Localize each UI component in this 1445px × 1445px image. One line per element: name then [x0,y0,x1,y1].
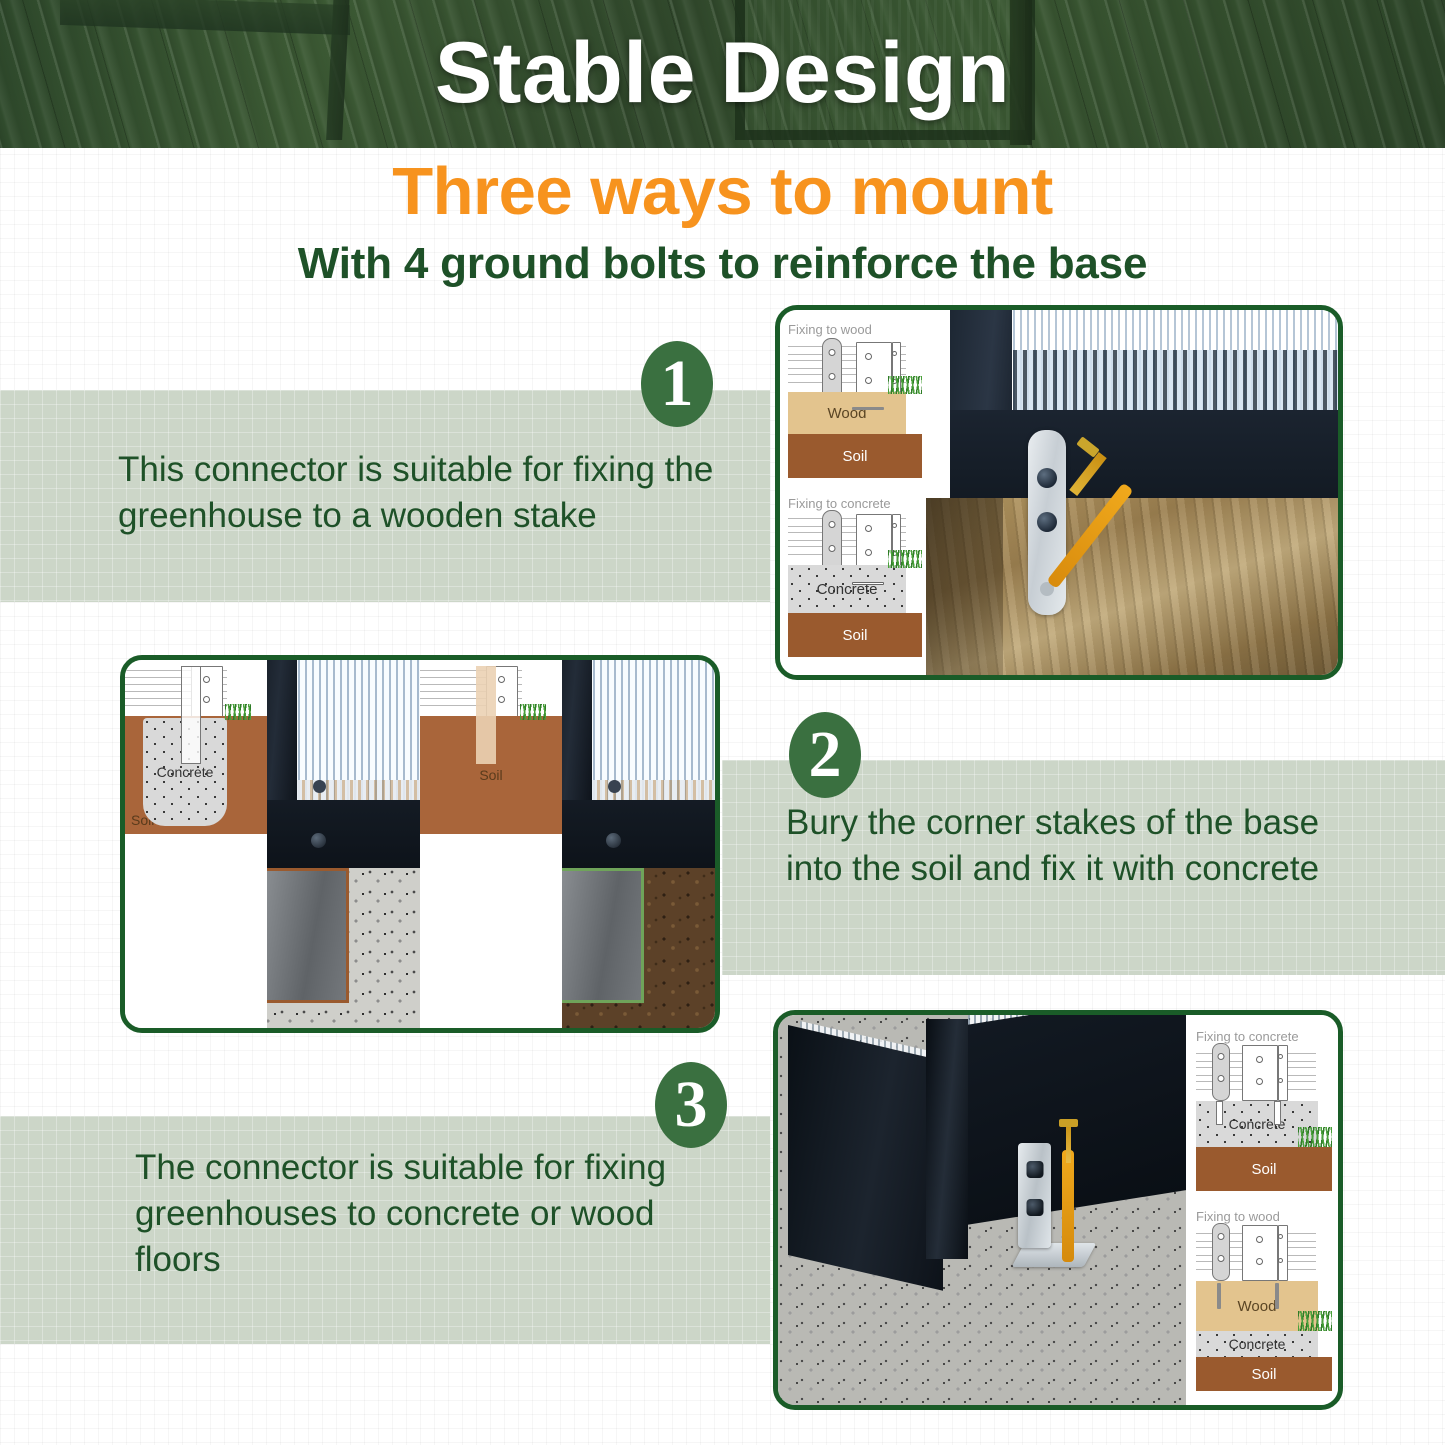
diagram-title-fixing-to-concrete: Fixing to concrete [1196,1029,1299,1044]
bolt-icon [1026,1199,1043,1216]
bracket-hole [829,545,836,552]
grass-icon [1298,1311,1332,1331]
anchor-peg [1274,1101,1281,1125]
panel2-right-diagram: Soil [420,660,562,1028]
vertical-bracket [1212,1223,1230,1281]
subheading-secondary: With 4 ground bolts to reinforce the bas… [0,239,1445,290]
plate-hole [865,377,872,384]
greenhouse-wall-left [788,1025,943,1291]
buried-block-illustration [552,868,644,1003]
bolt-icon [311,833,326,848]
flange-hole [1278,1054,1283,1059]
metal-connector-bracket [1018,1143,1051,1248]
anchor-screw-shaft [1066,1123,1071,1163]
anchor-icon [852,582,884,585]
grass-icon [1298,1127,1332,1147]
diagram-layer-soil: Soil [788,613,922,657]
diagram-layer-soil: Soil [1196,1357,1332,1391]
plate-hole [498,676,505,683]
diagram-title-fixing-to-wood: Fixing to wood [788,322,872,337]
panel-fixing-to-wooden-stake: Fixing to wood Wood Soil Fixing to concr… [775,305,1343,680]
grass-icon [520,704,546,720]
plate-hole [203,676,210,683]
greenhouse-corner-post [926,1019,968,1259]
connector-plate [1242,1045,1278,1101]
bury-in-soil-half: Soil [420,660,715,1028]
plate-hole [1256,1258,1263,1265]
step-3-number-badge: 3 [655,1062,727,1148]
step-2-number-badge: 2 [789,712,861,798]
buried-block-illustration [257,868,349,1003]
step-3-description: The connector is suitable for fixing gre… [135,1145,735,1284]
vertical-bracket [1212,1043,1230,1101]
bury-in-concrete-half: Soil Concrete [125,660,420,1028]
plate-hole [865,525,872,532]
diagram-layer-soil: Soil [788,434,922,478]
bolt-icon [1037,512,1057,532]
flange-hole [1278,1258,1283,1263]
panel1-diagram-column: Fixing to wood Wood Soil Fixing to concr… [780,310,926,676]
bracket-hole [1218,1233,1225,1240]
greenhouse-wall-right [966,1015,1193,1225]
diagram-layer-soil: Soil [1196,1147,1332,1191]
step-2-description: Bury the corner stakes of the base into … [786,800,1326,892]
subheading-block: Three ways to mount With 4 ground bolts … [0,155,1445,289]
connector-side-flange [1278,1045,1288,1101]
grass-icon [888,376,922,394]
flange-hole [892,351,897,356]
screw-icon [1275,1283,1279,1309]
plate-hole [1256,1056,1263,1063]
plate-hole [865,353,872,360]
panel2-left-diagram: Soil Concrete [125,660,267,1028]
step-1-number-badge: 1 [641,341,713,427]
flange-hole [1278,1234,1283,1239]
diagram-title-fixing-to-concrete: Fixing to concrete [788,496,891,511]
bracket-hole [829,373,836,380]
bracket-hole [829,349,836,356]
wooden-beam-shadow [925,498,1003,676]
step-1-description: This connector is suitable for fixing th… [118,447,728,539]
bracket-hole [1218,1053,1225,1060]
header-banner: Stable Design [0,0,1445,148]
page-title: Stable Design [0,24,1445,123]
polycarbonate-glazing-shadow [1013,350,1340,418]
panel3-diagram-column: Fixing to concrete Concrete Soil Fixing … [1186,1015,1338,1405]
screw-icon [1217,1283,1221,1309]
bracket-hole [1218,1075,1225,1082]
bracket-hole [829,521,836,528]
panel-bury-stakes: Soil Concrete Soil [120,655,720,1033]
bolt-icon [606,833,621,848]
subheading-main: Three ways to mount [0,155,1445,229]
concrete-floor-photo [778,1015,1193,1407]
anchor-peg [1216,1101,1223,1125]
bolt-icon [608,780,621,793]
flange-hole [892,523,897,528]
grass-icon [225,704,251,720]
bracket-hole [1218,1255,1225,1262]
anchor-screw-head [1059,1119,1078,1127]
diagram-layer-concrete: Concrete [788,565,906,613]
plate-hole [1256,1236,1263,1243]
connector-side-flange [1278,1225,1288,1281]
plate-hole [203,696,210,703]
plate-hole [498,696,505,703]
diagram-title-fixing-to-wood: Fixing to wood [1196,1209,1280,1224]
bolt-icon [313,780,326,793]
diagram-layer-wood: Wood [788,392,906,434]
screw-icon [852,407,884,410]
diagram-layer-concrete: Concrete [1196,1331,1318,1357]
bolt-icon [1037,468,1057,488]
plate-hole [1256,1078,1263,1085]
grass-icon [888,550,922,568]
stake-peg [181,666,201,764]
panel-fixing-to-floor: Fixing to concrete Concrete Soil Fixing … [773,1010,1343,1410]
wooden-stake-photo [925,310,1340,676]
plate-hole [865,549,872,556]
metal-connector-bracket [1028,430,1066,615]
flange-hole [1278,1078,1283,1083]
bolt-icon [1026,1161,1043,1178]
orange-anchor-bolt [1062,1150,1074,1262]
stake-peg [476,666,496,764]
connector-plate [1242,1225,1278,1281]
